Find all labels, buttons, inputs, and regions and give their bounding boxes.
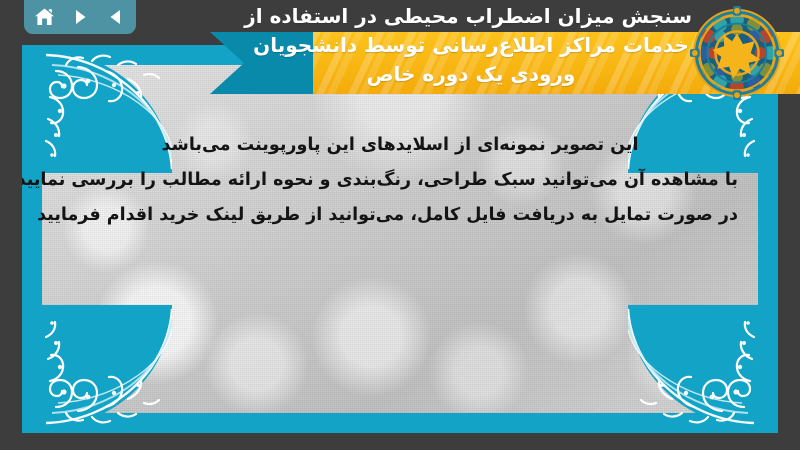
slide-inner-panel xyxy=(42,65,758,413)
title-line-1: سنجش میزان اضطراب محیطی در استفاده از xyxy=(250,2,692,31)
body-line-1: این تصویر نمونه‌ای از اسلایدهای این پاور… xyxy=(62,133,738,157)
home-icon xyxy=(34,7,55,27)
slide-navigation-bar xyxy=(24,0,136,34)
body-line-3: در صورت تمایل به دریافت فایل کامل، می‌تو… xyxy=(62,203,738,227)
triangle-left-icon xyxy=(107,8,125,26)
title-line-2: خدمات مراکز اطلاع‌رسانی توسط دانشجویان xyxy=(250,31,692,60)
persian-medallion-ornament xyxy=(688,4,786,102)
previous-slide-button[interactable] xyxy=(102,4,130,30)
body-line-2: با مشاهده آن می‌توانید سبک طراحی، رنگ‌بن… xyxy=(62,168,738,192)
slide-canvas: این تصویر نمونه‌ای از اسلایدهای این پاور… xyxy=(22,45,778,433)
slide-title: سنجش میزان اضطراب محیطی در استفاده از خد… xyxy=(250,2,692,89)
slide-body-text: این تصویر نمونه‌ای از اسلایدهای این پاور… xyxy=(62,133,738,238)
title-line-3: ورودی یک دوره خاص xyxy=(250,60,692,89)
triangle-right-icon xyxy=(71,8,89,26)
next-slide-button[interactable] xyxy=(66,4,94,30)
slide-preview-window: این تصویر نمونه‌ای از اسلایدهای این پاور… xyxy=(0,0,800,450)
home-button[interactable] xyxy=(30,4,58,30)
